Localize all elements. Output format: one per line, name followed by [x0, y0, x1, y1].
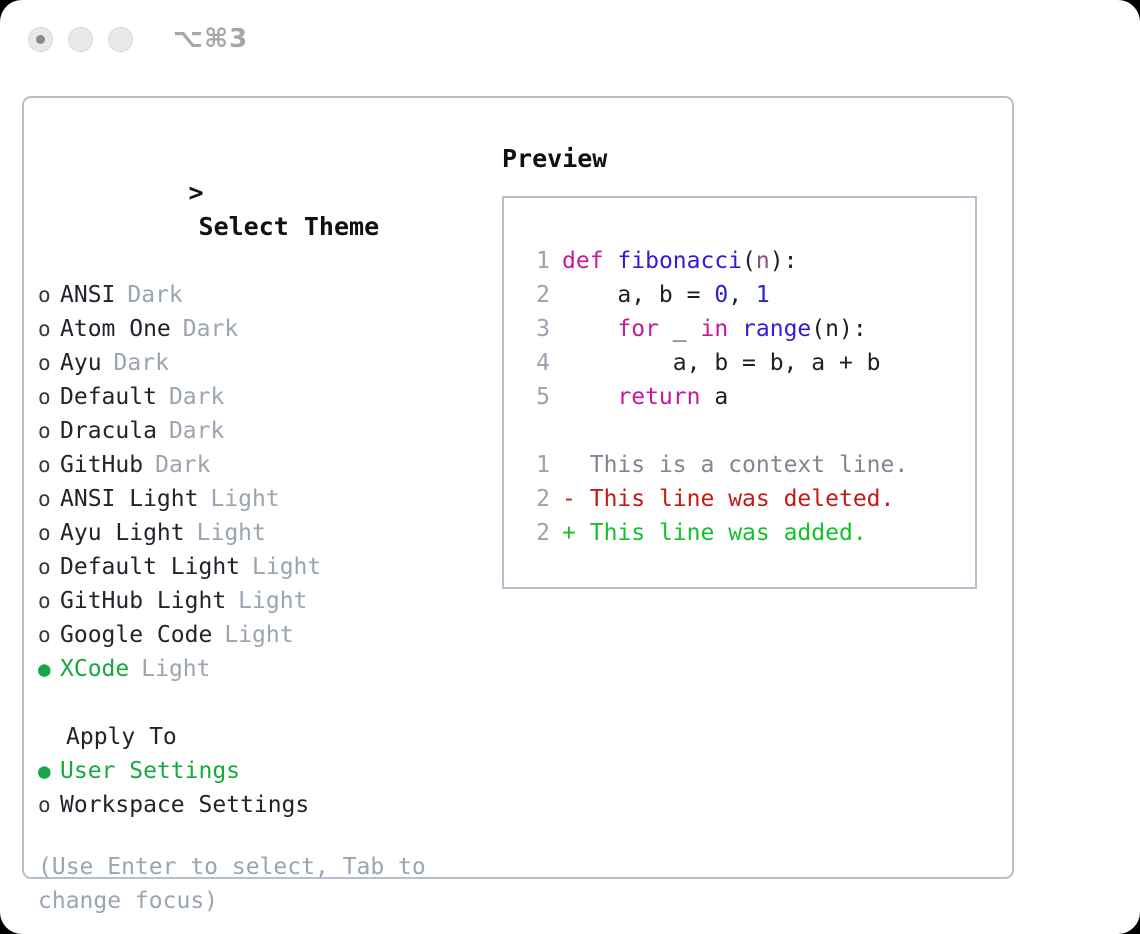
- code-line: 1def fibonacci(n):: [516, 244, 975, 278]
- code-token-fn: fibonacci: [617, 248, 742, 274]
- code-line-text: for _ in range(n):: [562, 312, 867, 346]
- theme-option-badge: Light: [252, 550, 321, 584]
- code-line-text: def fibonacci(n):: [562, 244, 797, 278]
- theme-option-default-light[interactable]: oDefault LightLight: [38, 550, 483, 584]
- theme-option-badge: Light: [141, 652, 210, 686]
- diff-marker-add: +: [562, 516, 576, 550]
- theme-option-badge: Dark: [127, 278, 182, 312]
- code-token-punct: (n):: [811, 316, 866, 342]
- code-token-num: 0: [714, 282, 728, 308]
- theme-option-ansi-light[interactable]: oANSI LightLight: [38, 482, 483, 516]
- radio-unselected-icon: o: [38, 380, 60, 414]
- theme-option-label: Dracula: [60, 414, 157, 448]
- radio-unselected-icon: o: [38, 312, 60, 346]
- theme-option-badge: Light: [238, 584, 307, 618]
- code-token-plain: ,: [728, 282, 756, 308]
- code-token-kw: return: [617, 384, 700, 410]
- radio-unselected-icon: o: [38, 448, 60, 482]
- theme-option-label: ANSI: [60, 278, 115, 312]
- record-dot-inner: [36, 35, 45, 44]
- code-token-punct: (: [742, 248, 756, 274]
- code-token-plain: [562, 316, 617, 342]
- theme-option-badge: Dark: [114, 346, 169, 380]
- theme-option-default[interactable]: oDefaultDark: [38, 380, 483, 414]
- list-spacer: [38, 686, 483, 720]
- preview-title: Preview: [502, 142, 992, 176]
- diff-line-add: 2+ This line was added.: [516, 516, 975, 550]
- diff-marker-gap: [576, 482, 590, 516]
- code-token-plain: [604, 248, 618, 274]
- apply-to-header: Apply To: [38, 720, 483, 754]
- theme-option-label: GitHub Light: [60, 584, 226, 618]
- code-token-fn: range: [742, 316, 811, 342]
- radio-unselected-icon: o: [38, 516, 60, 550]
- radio-unselected-icon: o: [38, 414, 60, 448]
- theme-option-badge: Light: [210, 482, 279, 516]
- code-line-text: a, b = 0, 1: [562, 278, 770, 312]
- code-token-kw: for: [617, 316, 659, 342]
- theme-option-label: Default Light: [60, 550, 240, 584]
- theme-option-label: GitHub: [60, 448, 143, 482]
- theme-option-github-light[interactable]: oGitHub LightLight: [38, 584, 483, 618]
- theme-list: oANSIDarkoAtom OneDarkoAyuDarkoDefaultDa…: [38, 278, 483, 686]
- diff-line-text: This is a context line.: [590, 448, 909, 482]
- radio-selected-icon: ●: [38, 754, 60, 788]
- diff-line-text: This line was added.: [590, 516, 867, 550]
- preview-box: 1def fibonacci(n):2 a, b = 0, 13 for _ i…: [502, 196, 977, 589]
- select-theme-header-text: Select Theme: [199, 212, 380, 241]
- diff-line-number: 2: [516, 516, 550, 550]
- diff-marker-del: -: [562, 482, 576, 516]
- apply-to-option-user-settings[interactable]: ●User Settings: [38, 754, 483, 788]
- window-dot-2-icon[interactable]: [68, 27, 93, 52]
- code-token-param: n: [756, 248, 770, 274]
- code-token-plain: [728, 316, 742, 342]
- code-token-kw: in: [700, 316, 728, 342]
- diff-line-ctx: 1 This is a context line.: [516, 448, 975, 482]
- keyboard-shortcut-label: ⌥⌘3: [173, 24, 248, 54]
- diff-marker-gap: [576, 448, 590, 482]
- theme-option-label: Atom One: [60, 312, 171, 346]
- radio-unselected-icon: o: [38, 584, 60, 618]
- code-token-plain: a, b =: [562, 282, 714, 308]
- theme-option-badge: Dark: [169, 380, 224, 414]
- diff-line-number: 2: [516, 482, 550, 516]
- code-line-text: a, b = b, a + b: [562, 346, 881, 380]
- theme-selector-column: > Select Theme oANSIDarkoAtom OneDarkoAy…: [38, 142, 483, 918]
- code-diff-gap: [516, 414, 975, 448]
- radio-unselected-icon: o: [38, 278, 60, 312]
- prompt-caret-icon: >: [189, 178, 204, 207]
- code-line: 2 a, b = 0, 1: [516, 278, 975, 312]
- hint-text: (Use Enter to select, Tab to change focu…: [38, 850, 448, 918]
- theme-option-badge: Light: [224, 618, 293, 652]
- theme-option-label: Ayu: [60, 346, 102, 380]
- radio-unselected-icon: o: [38, 618, 60, 652]
- window-dot-3-icon[interactable]: [108, 27, 133, 52]
- radio-unselected-icon: o: [38, 550, 60, 584]
- theme-option-label: Google Code: [60, 618, 212, 652]
- code-token-num: 1: [756, 282, 770, 308]
- apply-to-option-workspace-settings[interactable]: oWorkspace Settings: [38, 788, 483, 822]
- diff-preview: 1 This is a context line.2- This line wa…: [516, 448, 975, 550]
- theme-option-github[interactable]: oGitHubDark: [38, 448, 483, 482]
- radio-unselected-icon: o: [38, 788, 60, 822]
- code-token-plain: a: [700, 384, 728, 410]
- record-indicator-icon[interactable]: [28, 27, 53, 52]
- theme-option-badge: Light: [197, 516, 266, 550]
- code-line-number: 1: [516, 244, 550, 278]
- code-line-number: 2: [516, 278, 550, 312]
- radio-unselected-icon: o: [38, 482, 60, 516]
- theme-option-label: ANSI Light: [60, 482, 198, 516]
- preview-column: Preview 1def fibonacci(n):2 a, b = 0, 13…: [502, 142, 992, 589]
- app-window: ⌥⌘3 > Select Theme oANSIDarkoAtom OneDar…: [0, 0, 1140, 934]
- diff-line-text: This line was deleted.: [590, 482, 895, 516]
- title-bar: ⌥⌘3: [0, 0, 1140, 78]
- theme-option-ayu[interactable]: oAyuDark: [38, 346, 483, 380]
- code-line-number: 4: [516, 346, 550, 380]
- select-theme-header: > Select Theme: [38, 142, 483, 278]
- apply-to-list: ●User SettingsoWorkspace Settings: [38, 754, 483, 822]
- theme-option-atom-one[interactable]: oAtom OneDark: [38, 312, 483, 346]
- code-token-plain: _: [659, 316, 701, 342]
- theme-option-google-code[interactable]: oGoogle CodeLight: [38, 618, 483, 652]
- code-line-number: 3: [516, 312, 550, 346]
- code-line-text: return a: [562, 380, 728, 414]
- apply-to-option-label: Workspace Settings: [60, 788, 309, 822]
- main-panel: > Select Theme oANSIDarkoAtom OneDarkoAy…: [22, 96, 1014, 879]
- theme-option-dracula[interactable]: oDraculaDark: [38, 414, 483, 448]
- code-line: 3 for _ in range(n):: [516, 312, 975, 346]
- theme-option-xcode[interactable]: ●XCodeLight: [38, 652, 483, 686]
- theme-option-ayu-light[interactable]: oAyu LightLight: [38, 516, 483, 550]
- panel-body: > Select Theme oANSIDarkoAtom OneDarkoAy…: [24, 98, 1012, 877]
- theme-option-label: XCode: [60, 652, 129, 686]
- code-token-plain: a, b = b, a + b: [562, 350, 881, 376]
- theme-option-label: Default: [60, 380, 157, 414]
- theme-option-ansi[interactable]: oANSIDark: [38, 278, 483, 312]
- radio-selected-icon: ●: [38, 652, 60, 686]
- code-line-number: 5: [516, 380, 550, 414]
- apply-to-option-label: User Settings: [60, 754, 240, 788]
- code-token-kw: def: [562, 248, 604, 274]
- code-line: 4 a, b = b, a + b: [516, 346, 975, 380]
- diff-marker-gap: [576, 516, 590, 550]
- diff-line-number: 1: [516, 448, 550, 482]
- theme-option-badge: Dark: [155, 448, 210, 482]
- radio-unselected-icon: o: [38, 346, 60, 380]
- code-line: 5 return a: [516, 380, 975, 414]
- diff-marker-ctx: [562, 448, 576, 482]
- code-token-punct: ):: [770, 248, 798, 274]
- theme-option-label: Ayu Light: [60, 516, 185, 550]
- diff-line-del: 2- This line was deleted.: [516, 482, 975, 516]
- code-token-plain: [562, 384, 617, 410]
- theme-option-badge: Dark: [183, 312, 238, 346]
- theme-option-badge: Dark: [169, 414, 224, 448]
- code-preview: 1def fibonacci(n):2 a, b = 0, 13 for _ i…: [516, 244, 975, 414]
